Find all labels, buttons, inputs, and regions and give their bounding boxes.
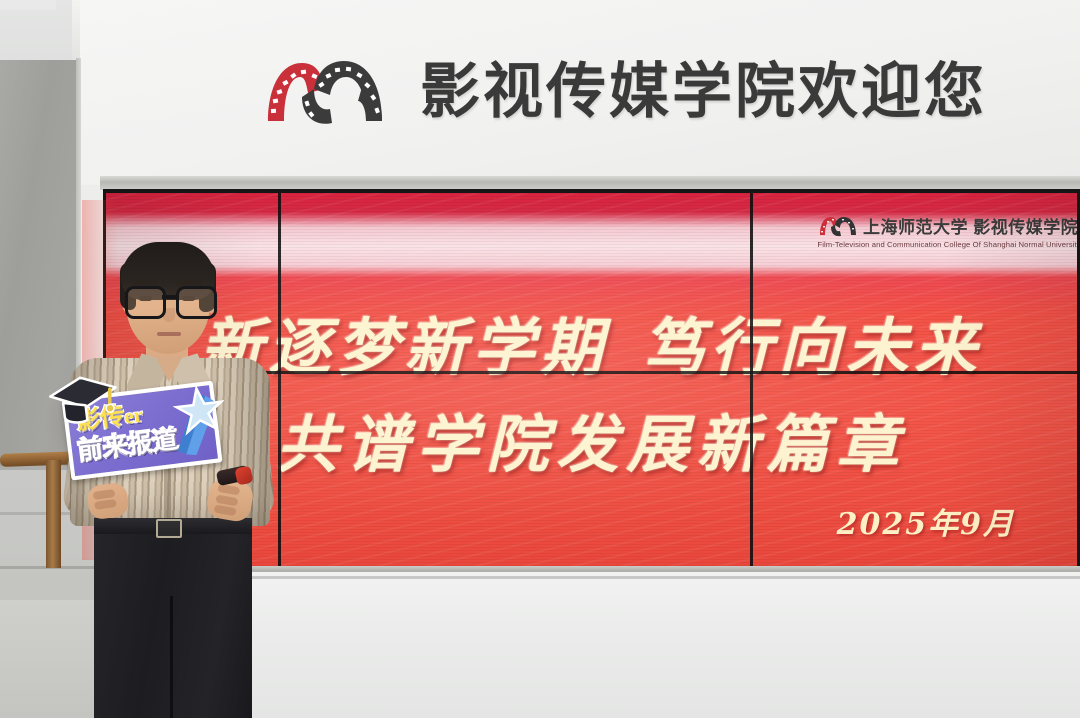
black-trousers [94, 518, 252, 718]
graduation-cap-icon [46, 370, 124, 430]
eyebrow-right [176, 280, 202, 285]
belt-buckle [156, 519, 182, 538]
glasses-lens-right [176, 286, 217, 319]
glasses-bridge [162, 295, 177, 299]
trouser-seam [170, 596, 173, 718]
mouth [157, 332, 181, 336]
screen-date: 2025年9月 [837, 499, 1015, 543]
glasses-icon [122, 286, 214, 314]
film-strip-logo-small [818, 214, 858, 238]
shooting-star-icon [165, 376, 230, 458]
wall-sign: 影视传媒学院欢迎您 [262, 42, 942, 142]
screen-top-trim [100, 176, 1080, 190]
placard-line-1-en: er [123, 402, 144, 428]
glasses-lens-left [125, 286, 166, 319]
eyebrow-left [132, 280, 158, 285]
film-strip-logo [262, 49, 390, 135]
ceiling-soffit-edge [0, 0, 56, 10]
screen-college-logo: 上海师范大学 影视传媒学院 Film-Television and Commun… [812, 204, 1077, 258]
held-placard: 影传er 前来报道 [46, 358, 230, 486]
wall-sign-title: 影视传媒学院欢迎您 [420, 62, 987, 122]
screen-logo-english: Film-Television and Communication Colleg… [815, 240, 1077, 249]
screen-logo-chinese: 上海师范大学 影视传媒学院 [863, 213, 1077, 238]
screen-seam-vertical [750, 193, 753, 575]
photo-scene: 影视传媒学院欢迎您 [0, 0, 1080, 718]
